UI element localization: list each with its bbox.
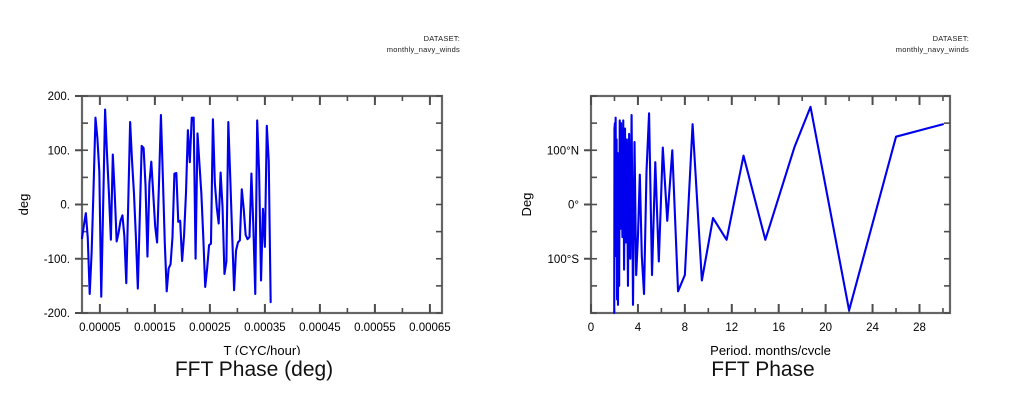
y-tick-label: 0° [568, 200, 579, 212]
x-tick-label: 0.00005 [79, 322, 121, 334]
x-axis-title: Period, months/cycle [710, 343, 831, 355]
y-tick-label: 100°S [548, 254, 580, 266]
y-tick-label: -100. [44, 254, 70, 266]
x-tick-label: 16 [772, 322, 785, 334]
x-axis-title: T (CYC/hour) [223, 343, 300, 355]
data-series-line [82, 110, 271, 303]
x-tick-label: 28 [913, 322, 926, 334]
y-axis-title: deg [16, 194, 31, 216]
x-tick-label: 0.00035 [244, 322, 286, 334]
x-tick-label: 8 [682, 322, 688, 334]
y-tick-label: -200. [44, 308, 70, 320]
x-tick-label: 0.00065 [409, 322, 451, 334]
x-tick-label: 0.00015 [134, 322, 176, 334]
data-series-line [614, 107, 943, 313]
panel-fft-phase-deg: DATASET: monthly_navy_winds 0.000050.000… [0, 0, 508, 407]
x-tick-label: 12 [725, 322, 738, 334]
figure-page: DATASET: monthly_navy_winds 0.000050.000… [0, 0, 1017, 407]
y-tick-label: 100°N [547, 145, 579, 157]
plot-left: 0.000050.000150.000250.000350.000450.000… [0, 0, 508, 355]
panel-fft-phase: DATASET: monthly_navy_winds 048121620242… [509, 0, 1017, 407]
x-tick-label: 0.00045 [299, 322, 341, 334]
y-tick-label: 200. [48, 91, 70, 103]
x-tick-label: 4 [635, 322, 642, 334]
y-axis-title: Deg [519, 193, 534, 217]
x-tick-label: 24 [866, 322, 879, 334]
x-tick-label: 0 [588, 322, 594, 334]
x-tick-label: 0.00055 [354, 322, 396, 334]
figure-title-left: FFT Phase (deg) [0, 358, 508, 382]
figure-title-right: FFT Phase [509, 358, 1017, 382]
y-tick-label: 100. [48, 145, 70, 157]
x-tick-label: 20 [819, 322, 832, 334]
plot-right: 0481216202428100°N0°100°SPeriod, months/… [509, 0, 1017, 355]
x-tick-label: 0.00025 [189, 322, 231, 334]
y-tick-label: 0. [60, 200, 70, 212]
